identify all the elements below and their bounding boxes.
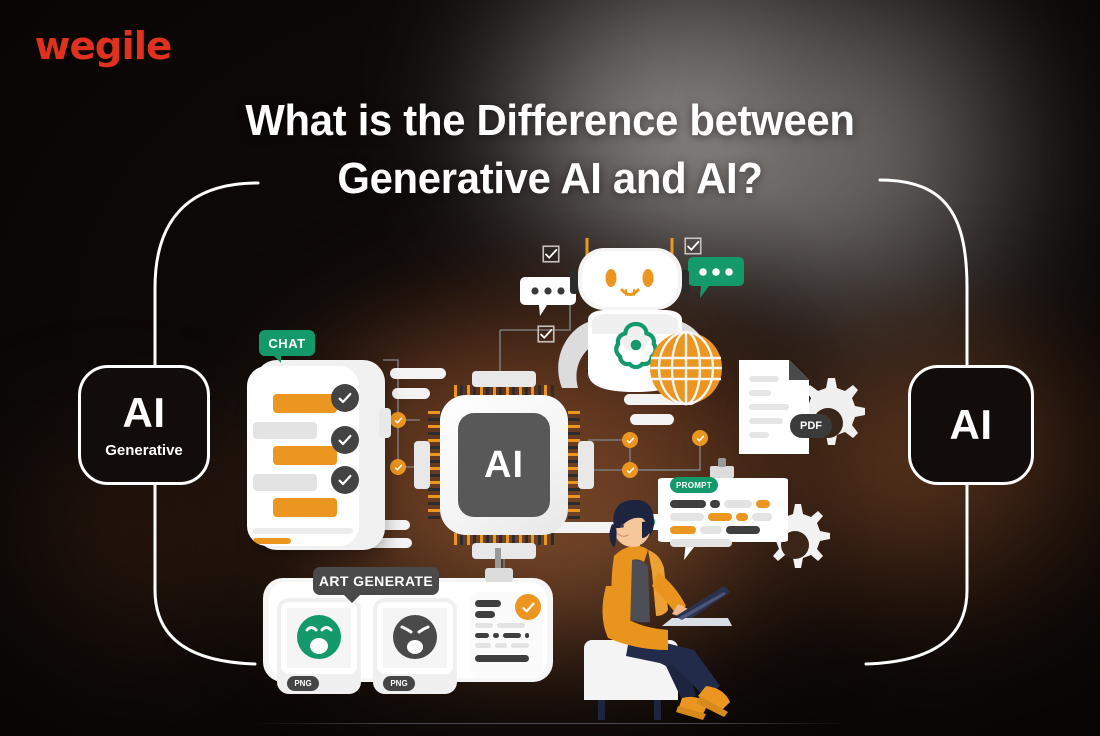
chip-core-label: AI [458,413,550,517]
document-icon [735,358,813,456]
node-check-3 [622,432,638,448]
woman-with-laptop-illustration [578,500,758,725]
chat-badge[interactable]: CHAT [259,330,315,356]
png-badge-right[interactable]: PNG [383,676,415,691]
emoji-surprised-dark-icon [391,612,439,662]
chat-card-group: CHAT [243,330,393,560]
art-generate-group: PNG PNG ART GEN [263,558,553,698]
art-setting-row-11 [511,643,529,648]
chat-msg-4 [253,474,317,491]
chat-check-3 [331,466,359,494]
art-setting-row-10 [495,643,507,648]
emoji-happy-green-icon [295,612,343,662]
banner-canvas: wegile What is the Difference between Ge… [0,0,1100,736]
art-setting-row-2 [475,611,495,618]
chip-top-connector [472,371,536,387]
art-panel-stem [495,548,501,568]
art-setting-row-8 [525,633,529,638]
chip-left-connector [414,441,430,489]
chat-input-hint [253,538,291,544]
art-setting-row-1 [475,600,501,607]
chat-check-1 [331,384,359,412]
ai-chip: AI [428,385,580,545]
node-check-5 [622,462,638,478]
chat-msg-5 [273,498,337,517]
chip-bottom-connector [472,543,536,559]
deco-bar-1 [390,368,446,379]
art-setting-row-3 [475,623,493,628]
node-check-4 [692,430,708,446]
chat-msg-2 [253,422,317,439]
deco-bar-2 [392,388,430,399]
prompt-line-1d [756,500,770,508]
chat-msg-3 [273,446,337,465]
robot-illustration [520,228,750,408]
chat-divider [253,528,353,534]
art-setting-row-6 [493,633,499,638]
deco-bar-6 [630,414,674,425]
chat-check-2 [331,426,359,454]
art-generate-badge[interactable]: ART GENERATE [313,567,439,595]
prompt-badge[interactable]: PROMPT [670,477,718,493]
pdf-badge[interactable]: PDF [790,414,832,438]
chat-card-connector [379,408,391,438]
art-setting-row-5 [475,633,489,638]
art-approve-check-icon [515,594,541,620]
art-setting-row-7 [503,633,521,638]
chip-right-connector [578,441,594,489]
art-setting-row-12 [475,655,529,662]
chat-msg-1 [273,394,337,413]
art-setting-row-4 [497,623,525,628]
png-badge-left[interactable]: PNG [287,676,319,691]
art-panel-connector [485,568,513,582]
art-setting-row-9 [475,643,491,648]
